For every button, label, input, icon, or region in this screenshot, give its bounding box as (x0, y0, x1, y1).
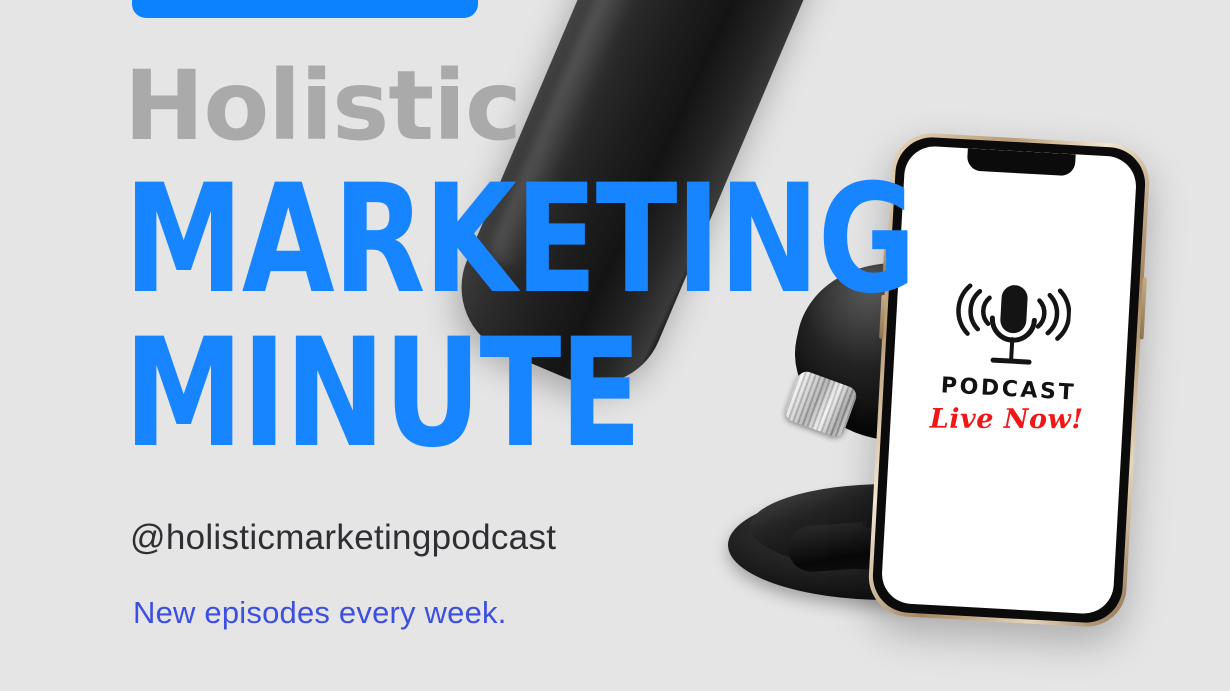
phone-power-button (1139, 277, 1146, 339)
brand-word-holistic: Holistic (124, 58, 521, 154)
microphone-body-highlight (486, 0, 705, 272)
phone-bezel: PODCAST Live Now! (871, 135, 1147, 624)
phone-screen: PODCAST Live Now! (880, 145, 1137, 615)
tagline: New episodes every week. (133, 595, 507, 631)
live-now-label: Live Now! (930, 406, 1084, 434)
social-handle: @holisticmarketingpodcast (130, 518, 556, 558)
podcast-logo: PODCAST Live Now! (890, 273, 1130, 440)
podcast-promo-poster: PODCAST Live Now! Holistic MARKETING MIN… (0, 0, 1230, 691)
top-blue-tab (132, 0, 478, 18)
phone-notch (967, 148, 1076, 176)
microphone-icon (951, 276, 1072, 378)
smartphone: PODCAST Live Now! (867, 131, 1152, 629)
podcast-wordmark: PODCAST (940, 375, 1076, 405)
